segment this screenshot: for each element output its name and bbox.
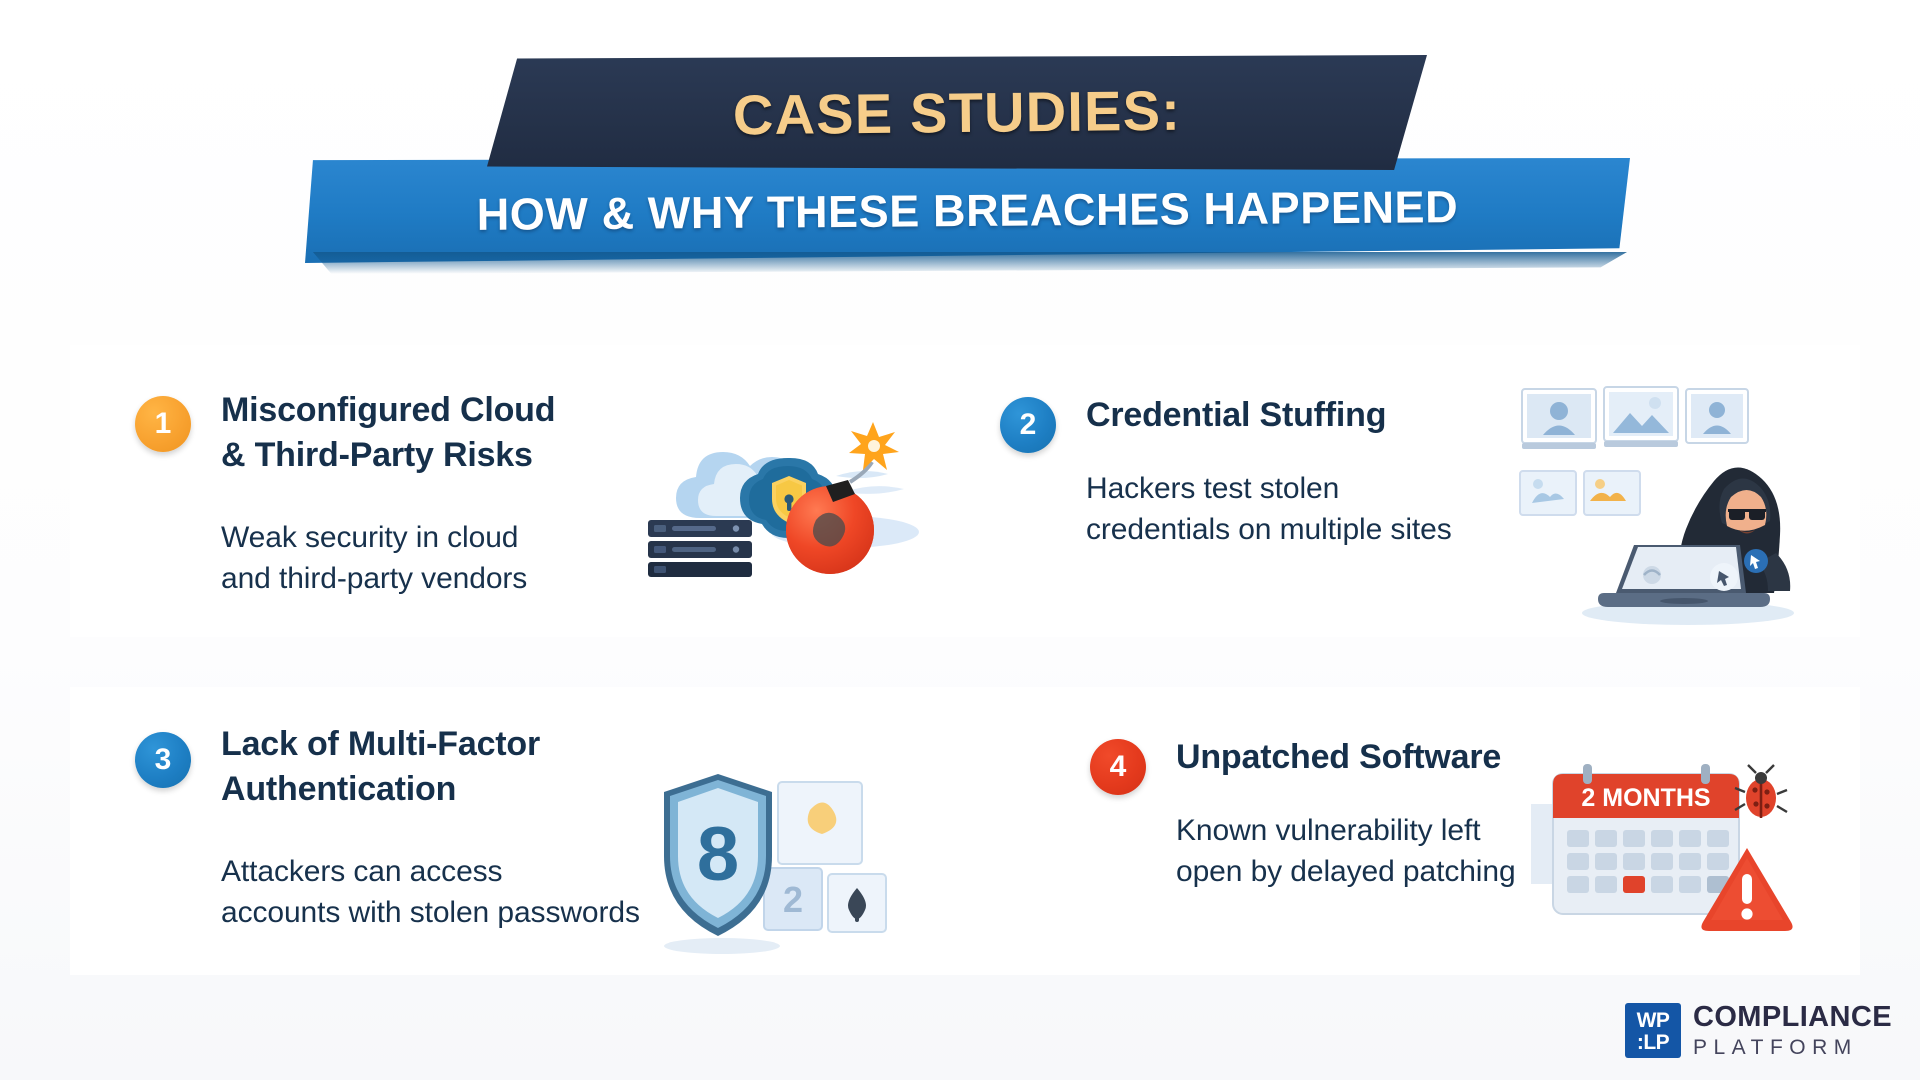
card-2-description: Hackers test stolen credentials on multi…: [1086, 469, 1506, 551]
card-credential-stuffing[interactable]: 2 Credential Stuffing Hackers test stole…: [1000, 393, 1420, 613]
subtitle-banner: HOW & WHY THESE BREACHES HAPPENED: [305, 158, 1630, 263]
card-1-title-line2: & Third-Party Risks: [221, 436, 533, 474]
calendar-label: 2 MONTHS: [1581, 784, 1710, 812]
card-4-desc-line1: Known vulnerability left: [1176, 814, 1480, 847]
card-3-title-line1: Lack of Multi-Factor: [221, 725, 540, 763]
card-1-number-badge: 1: [135, 396, 191, 452]
card-1-title: Misconfigured Cloud & Third-Party Risks: [221, 388, 621, 478]
subtitle-banner-shadow: [305, 252, 1627, 274]
logo-wordmark: COMPLIANCE PLATFORM: [1693, 1003, 1892, 1058]
svg-text:8: 8: [697, 812, 739, 897]
page-title: CASE STUDIES:: [486, 50, 1427, 175]
logo-name: COMPLIANCE: [1693, 1003, 1892, 1032]
infographic-canvas: HOW & WHY THESE BREACHES HAPPENED CASE S…: [0, 0, 1920, 1080]
brand-logo[interactable]: WP :LP COMPLIANCE PLATFORM: [1625, 1003, 1892, 1058]
logo-mark-wplp: WP :LP: [1625, 1003, 1681, 1058]
card-1-desc-line1: Weak security in cloud: [221, 521, 518, 554]
card-4-desc-line2: open by delayed patching: [1176, 855, 1516, 888]
title-banner: CASE STUDIES:: [487, 55, 1427, 170]
card-3-title-line2: Authentication: [221, 770, 456, 808]
logo-subtitle: PLATFORM: [1693, 1037, 1892, 1058]
card-unpatched-software[interactable]: 4 Unpatched Software Known vulnerability…: [1090, 735, 1520, 945]
card-2-title: Credential Stuffing: [1086, 393, 1486, 438]
subtitle-text: HOW & WHY THESE BREACHES HAPPENED: [305, 153, 1631, 268]
card-2-desc-line2: credentials on multiple sites: [1086, 513, 1452, 546]
card-misconfigured-cloud[interactable]: 1 Misconfigured Cloud & Third-Party Risk…: [135, 388, 605, 618]
shield-keys-cards-illustration: 2 8: [660, 770, 910, 955]
card-3-desc-line1: Attackers can access: [221, 855, 502, 888]
svg-text:2: 2: [783, 879, 803, 920]
card-1-title-line1: Misconfigured Cloud: [221, 391, 555, 429]
card-3-desc-line2: accounts with stolen passwords: [221, 896, 640, 929]
calendar-bug-warning-illustration: 2 MONTHS: [1525, 752, 1795, 942]
hacker-laptop-photos-illustration: [1518, 385, 1803, 630]
card-2-desc-line1: Hackers test stolen: [1086, 472, 1339, 505]
card-1-desc-line2: and third-party vendors: [221, 562, 527, 595]
card-3-title: Lack of Multi-Factor Authentication: [221, 722, 651, 812]
card-4-number-badge: 4: [1090, 739, 1146, 795]
header-banner-group: HOW & WHY THESE BREACHES HAPPENED CASE S…: [0, 0, 1920, 300]
card-3-number-badge: 3: [135, 732, 191, 788]
logo-mark-line1: WP: [1637, 1010, 1670, 1031]
cloud-lock-bomb-server-illustration: [640, 380, 920, 585]
logo-mark-line2: :LP: [1637, 1032, 1669, 1053]
card-lack-of-mfa[interactable]: 3 Lack of Multi-Factor Authentication At…: [135, 722, 655, 962]
card-1-description: Weak security in cloud and third-party v…: [221, 518, 621, 600]
card-2-number-badge: 2: [1000, 397, 1056, 453]
